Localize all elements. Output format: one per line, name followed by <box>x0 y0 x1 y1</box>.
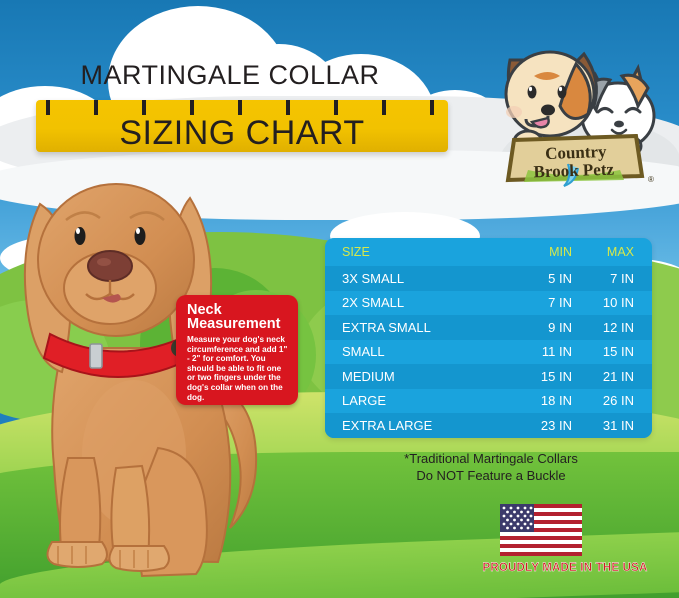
cell-size: LARGE <box>342 393 504 408</box>
cell-max: 21 IN <box>572 369 634 384</box>
cell-min: 11 IN <box>504 344 572 359</box>
table-row: 3X SMALL 5 IN 7 IN <box>325 266 652 291</box>
collar-buckle <box>90 344 102 368</box>
brand-logo: Country Brook Petz ® <box>488 24 656 189</box>
dog-front-leg-right <box>111 466 149 558</box>
size-table: SIZE MIN MAX 3X SMALL 5 IN 7 IN 2X SMALL… <box>325 238 652 438</box>
column-header-size: SIZE <box>342 245 504 259</box>
cell-max: 31 IN <box>572 418 634 433</box>
table-header-row: SIZE MIN MAX <box>325 238 652 266</box>
neck-measurement-callout: Neck Measurement Measure your dog's neck… <box>176 295 298 405</box>
table-row: EXTRA SMALL 9 IN 12 IN <box>325 315 652 340</box>
cell-size: EXTRA SMALL <box>342 320 504 335</box>
cell-max: 26 IN <box>572 393 634 408</box>
cell-max: 10 IN <box>572 295 634 310</box>
table-row: 2X SMALL 7 IN 10 IN <box>325 291 652 316</box>
cell-min: 7 IN <box>504 295 572 310</box>
cell-min: 5 IN <box>504 271 572 286</box>
dog-nose <box>88 251 132 281</box>
disclaimer-line1: *Traditional Martingale Collars <box>336 450 646 467</box>
sizing-chart-infographic: MARTINGALE COLLAR SIZING CHART <box>0 0 679 598</box>
dog-illustration <box>506 52 596 136</box>
cell-size: EXTRA LARGE <box>342 418 504 433</box>
callout-body: Measure your dog's neck circumference an… <box>187 335 289 402</box>
cell-max: 15 IN <box>572 344 634 359</box>
page-title: SIZING CHART <box>36 103 448 155</box>
usa-flag-icon <box>500 504 582 556</box>
made-in-usa-label: PROUDLY MADE IN THE USA <box>462 562 668 574</box>
logo-registered-mark: ® <box>648 175 654 184</box>
cell-min: 18 IN <box>504 393 572 408</box>
column-header-max: MAX <box>572 245 634 259</box>
cell-min: 9 IN <box>504 320 572 335</box>
table-row: MEDIUM 15 IN 21 IN <box>325 364 652 389</box>
callout-heading: Neck Measurement <box>187 303 289 331</box>
dog-eye-right <box>135 227 146 245</box>
cell-min: 23 IN <box>504 418 572 433</box>
page-subtitle: MARTINGALE COLLAR <box>0 60 460 91</box>
table-row: LARGE 18 IN 26 IN <box>325 389 652 414</box>
dog-paw-left <box>47 542 107 567</box>
cell-size: 2X SMALL <box>342 295 504 310</box>
dog-paw-right <box>109 546 169 571</box>
table-row: EXTRA LARGE 23 IN 31 IN <box>325 413 652 438</box>
cell-size: MEDIUM <box>342 369 504 384</box>
table-row: SMALL 11 IN 15 IN <box>325 340 652 365</box>
dog-eye-left <box>75 227 86 245</box>
column-header-min: MIN <box>504 245 572 259</box>
cell-min: 15 IN <box>504 369 572 384</box>
callout-heading-line2: Measurement <box>187 316 280 332</box>
cell-size: 3X SMALL <box>342 271 504 286</box>
cell-size: SMALL <box>342 344 504 359</box>
cell-max: 12 IN <box>572 320 634 335</box>
disclaimer-line2: Do NOT Feature a Buckle <box>336 467 646 484</box>
logo-line2: Brook Petz <box>533 160 614 182</box>
buckle-disclaimer: *Traditional Martingale Collars Do NOT F… <box>336 450 646 484</box>
cell-max: 7 IN <box>572 271 634 286</box>
